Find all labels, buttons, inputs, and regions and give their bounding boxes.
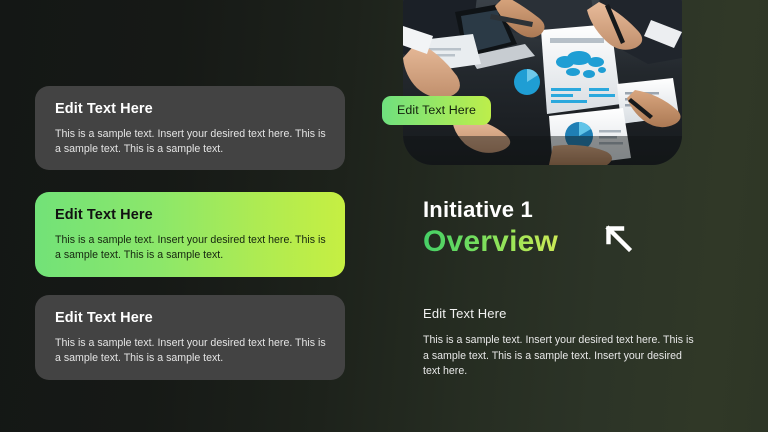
card-body: This is a sample text. Insert your desir… xyxy=(55,233,327,263)
list-item-card-2-active[interactable]: Edit Text Here This is a sample text. In… xyxy=(35,192,345,277)
card-body: This is a sample text. Insert your desir… xyxy=(55,336,327,366)
list-item-card-3[interactable]: Edit Text Here This is a sample text. In… xyxy=(35,295,345,380)
card-title: Edit Text Here xyxy=(55,102,327,118)
arrow-up-left-icon xyxy=(600,220,636,256)
card-body: This is a sample text. Insert your desir… xyxy=(55,127,327,157)
business-meeting-photo xyxy=(403,0,682,165)
card-title: Edit Text Here xyxy=(55,311,327,327)
photo-artwork xyxy=(403,0,682,165)
headline-eyebrow: Initiative 1 xyxy=(423,198,558,223)
page-title: Overview xyxy=(423,225,558,258)
body-block-text: This is a sample text. Insert your desir… xyxy=(423,333,701,379)
list-item-card-1[interactable]: Edit Text Here This is a sample text. In… xyxy=(35,86,345,170)
body-block-title: Edit Text Here xyxy=(423,307,701,321)
slide-canvas: Edit Text Here This is a sample text. In… xyxy=(0,0,768,432)
headline-block: Initiative 1 Overview xyxy=(423,198,558,258)
body-text-block: Edit Text Here This is a sample text. In… xyxy=(423,307,701,380)
image-edit-text-button[interactable]: Edit Text Here xyxy=(382,96,491,125)
card-title: Edit Text Here xyxy=(55,208,327,224)
